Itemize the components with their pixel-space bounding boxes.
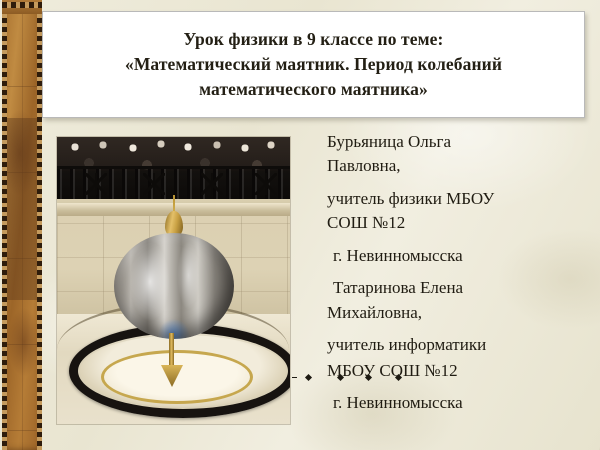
strip-left-perforation (2, 0, 7, 450)
title-line-2: «Математический маятник. Период колебани… (125, 52, 502, 77)
left-ornament-strip (2, 0, 42, 450)
foucault-pendulum-photo (57, 137, 290, 424)
dash-rule-dot (395, 374, 402, 381)
author-line: Бурьяница Ольга (327, 130, 589, 153)
dash-rule-dot (305, 374, 312, 381)
dash-rule-dot (365, 374, 372, 381)
author-line: Павловна, (327, 154, 589, 177)
photo-balcony (57, 137, 290, 199)
title-line-1: Урок физики в 9 классе по теме: (125, 27, 502, 52)
slide-title: Урок физики в 9 классе по теме: «Математ… (111, 27, 516, 102)
slide-canvas: Урок физики в 9 классе по теме: «Математ… (0, 0, 600, 450)
dash-rule-dot (337, 374, 344, 381)
title-box: Урок физики в 9 классе по теме: «Математ… (42, 11, 585, 118)
author-line: учитель физики МБОУ (327, 187, 589, 210)
author-line: г. Невинномысска (327, 244, 589, 267)
author-text-column: Бурьяница Ольга Павловна, учитель физики… (327, 130, 589, 416)
photo-railing-star-1 (85, 173, 107, 195)
author-line: Татаринова Елена (327, 276, 589, 299)
author-line: учитель информатики (327, 333, 589, 356)
author-line: Михайловна, (327, 301, 589, 324)
author-line: г. Невинномысска (327, 391, 589, 414)
photo-railing-star-3 (201, 173, 223, 195)
photo-railing-star-4 (255, 173, 277, 195)
photo-railing-star-2 (143, 173, 165, 195)
strip-top-perforation (2, 2, 42, 8)
author-line: СОШ №12 (327, 211, 589, 234)
decorative-dash-rule (292, 374, 420, 381)
title-line-3: математического маятника» (125, 77, 502, 102)
photo-pendulum-sphere (114, 233, 234, 339)
photo-railing-handrail (57, 166, 290, 169)
